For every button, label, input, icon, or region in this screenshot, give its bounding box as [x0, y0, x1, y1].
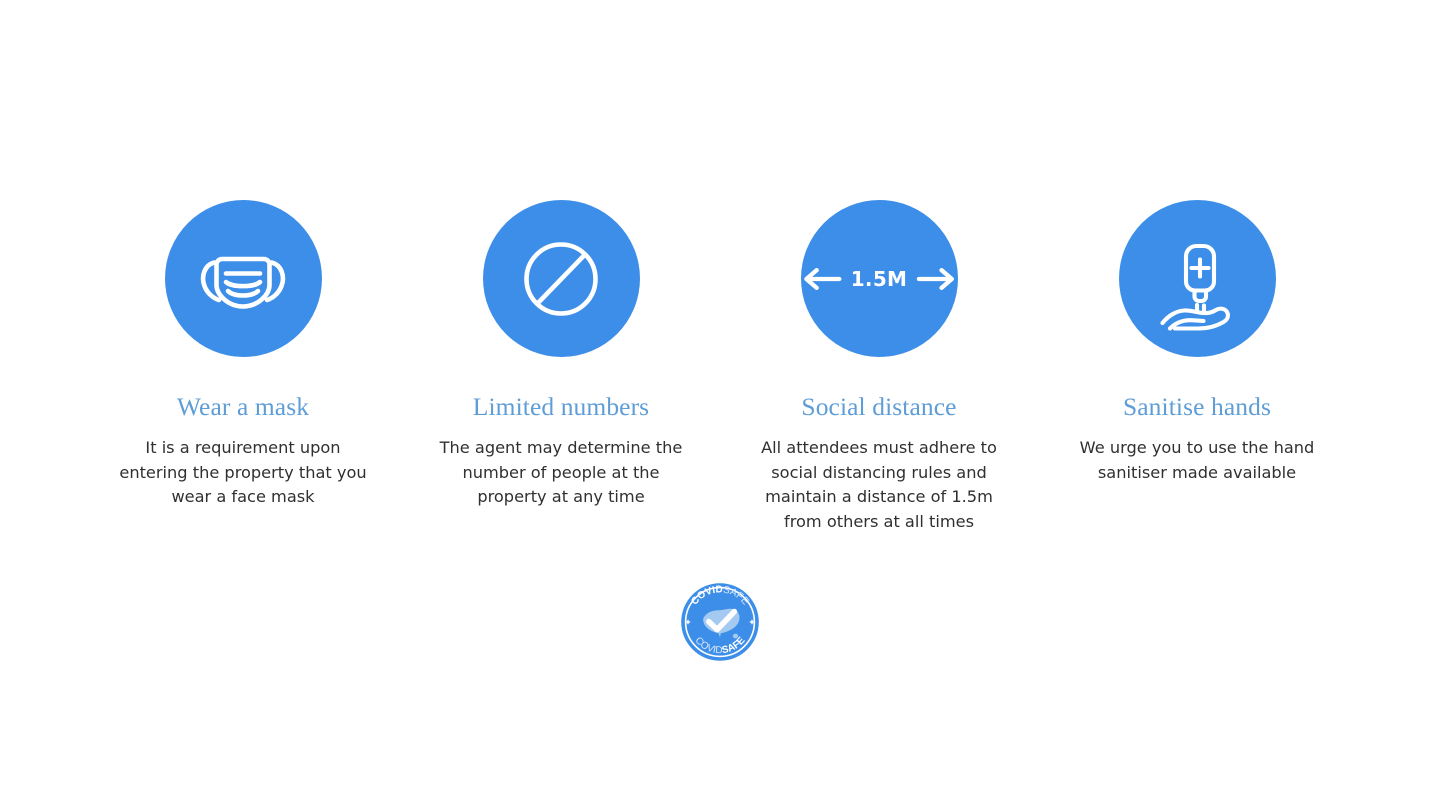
- guideline-card-wear-a-mask: Wear a mask It is a requirement upon ent…: [84, 200, 402, 510]
- card-body: All attendees must adhere to social dist…: [745, 436, 1013, 534]
- covidsafe-badge: COVIDSAFE COVIDSAFE: [680, 582, 760, 662]
- guideline-card-limited-numbers: Limited numbers The agent may determine …: [402, 200, 720, 510]
- guidelines-row: Wear a mask It is a requirement upon ent…: [0, 200, 1440, 534]
- card-title: Sanitise hands: [1123, 393, 1271, 421]
- card-title: Social distance: [801, 393, 956, 421]
- card-body: It is a requirement upon entering the pr…: [113, 436, 373, 510]
- covidsafe-badge-container: COVIDSAFE COVIDSAFE: [0, 582, 1440, 662]
- hand-sanitiser-icon: [1119, 200, 1276, 357]
- distance-label: 1.5M: [851, 269, 908, 289]
- guideline-card-social-distance: 1.5M Social distance All attendees must …: [720, 200, 1038, 534]
- arrow-right-icon: [916, 266, 957, 292]
- card-body: The agent may determine the number of pe…: [431, 436, 691, 510]
- guideline-card-sanitise-hands: Sanitise hands We urge you to use the ha…: [1038, 200, 1356, 485]
- arrow-left-icon: [801, 266, 842, 292]
- card-body: We urge you to use the hand sanitiser ma…: [1067, 436, 1327, 485]
- distance-graphic: 1.5M: [801, 266, 958, 292]
- prohibited-circle-slash-icon: [483, 200, 640, 357]
- face-mask-icon: [165, 200, 322, 357]
- card-title: Limited numbers: [473, 393, 649, 421]
- social-distance-arrows-icon: 1.5M: [801, 200, 958, 357]
- card-title: Wear a mask: [177, 393, 309, 421]
- poster-canvas: Wear a mask It is a requirement upon ent…: [0, 0, 1440, 810]
